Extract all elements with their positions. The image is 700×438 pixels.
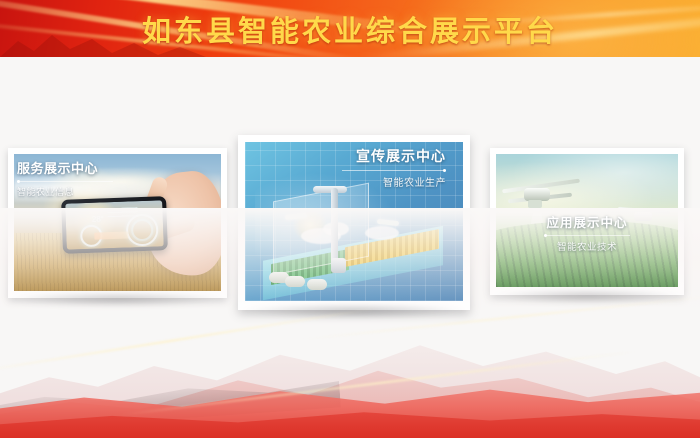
page-title: 如东县智能农业综合展示平台	[0, 0, 700, 57]
smartphone-illustration: 28°	[61, 196, 168, 254]
card-subtitle: 智能农业技术	[490, 239, 684, 253]
mountain-ridge-dark	[0, 367, 341, 432]
caption-dot	[443, 169, 446, 172]
drone-tank	[528, 200, 542, 208]
drone-large-icon	[502, 176, 580, 210]
page-header-banner: 如东县智能农业综合展示平台	[0, 0, 700, 57]
card-application-center-caption: 应用展示中心 智能农业技术	[490, 212, 684, 253]
caption-divider	[544, 235, 630, 236]
card-promotion-center-caption: 宣传展示中心 智能农业生产	[0, 146, 460, 191]
light-ray	[122, 350, 638, 415]
card-title: 应用展示中心	[490, 212, 684, 231]
card-title: 宣传展示中心	[342, 146, 446, 166]
caption-divider	[342, 170, 446, 171]
water-tank	[331, 258, 346, 273]
card-shadow	[12, 292, 223, 306]
sensor-pole	[331, 188, 338, 264]
mountain-layer-mid	[0, 318, 700, 438]
hud-bars-icon	[107, 207, 137, 217]
card-shadow	[242, 304, 466, 318]
hud-temperature-readout: 28°	[92, 214, 104, 223]
cloud-icon	[365, 226, 399, 240]
caption-dot	[544, 234, 547, 237]
card-shadow	[494, 289, 680, 303]
card-subtitle: 智能农业生产	[342, 174, 446, 189]
mountain-layer-near	[0, 360, 700, 438]
hud-chip	[94, 232, 128, 240]
phone-screen: 28°	[65, 200, 164, 249]
hay-bale	[307, 279, 327, 290]
mountain-layer-front	[0, 392, 700, 438]
platform-landing-page: 如东县智能农业综合展示平台 28° 服务展示	[0, 0, 700, 438]
hay-bale	[285, 276, 305, 287]
